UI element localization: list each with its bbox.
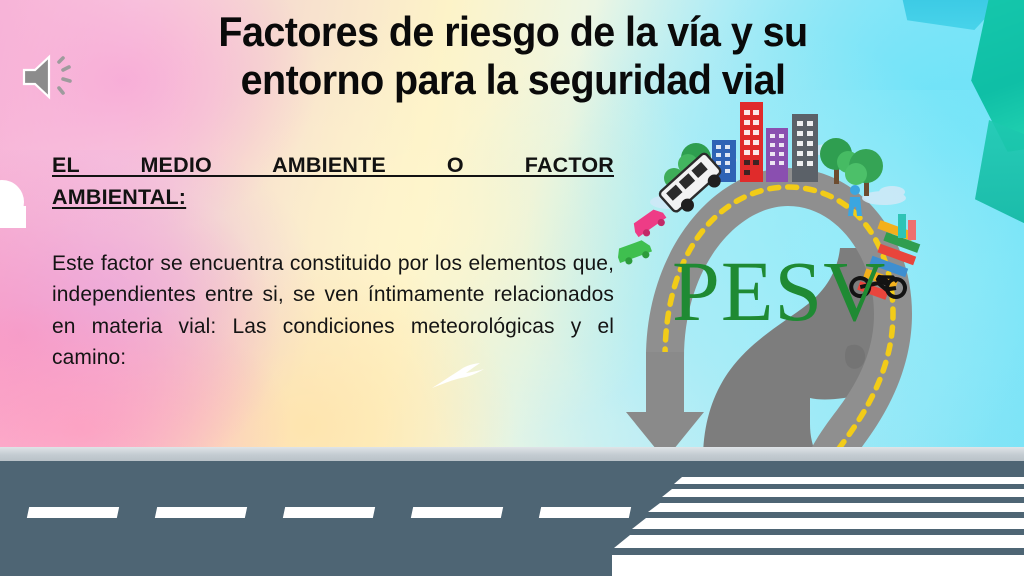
lane-dash <box>27 507 119 518</box>
content-column: EL MEDIO AMBIENTE O FACTOR AMBIENTAL: Es… <box>52 150 614 374</box>
body-paragraph: Este factor se encuentra constituido por… <box>52 248 614 374</box>
title-line-1: Factores de riesgo de la vía y su <box>142 8 885 56</box>
road-curb <box>0 447 1024 461</box>
lane-dash <box>155 507 247 518</box>
subheading-line-1: EL MEDIO AMBIENTE O FACTOR <box>52 153 614 177</box>
bird-icon <box>430 362 492 392</box>
pesv-illustration: PESV <box>612 108 942 488</box>
page-title: Factores de riesgo de la vía y su entorn… <box>142 8 885 104</box>
road-arrow-icon <box>626 352 704 460</box>
car-pink-icon <box>631 206 670 241</box>
slide-canvas: Factores de riesgo de la vía y su entorn… <box>0 0 1024 576</box>
building-gray <box>792 114 818 182</box>
paragraph-line-1: Este factor se encuentra constituido por… <box>52 252 462 275</box>
pesv-wordmark: PESV <box>672 243 886 339</box>
building-purple <box>766 128 788 182</box>
lane-dash <box>283 507 375 518</box>
pesv-buildings <box>712 102 818 182</box>
subheading-line-2: AMBIENTAL: <box>52 182 614 214</box>
title-line-2: entorno para la seguridad vial <box>142 56 885 104</box>
building-red <box>740 102 763 182</box>
zebra-crossing <box>612 461 1024 576</box>
speaker-icon[interactable] <box>18 48 86 106</box>
lane-dash <box>411 507 503 518</box>
subheading: EL MEDIO AMBIENTE O FACTOR AMBIENTAL: <box>52 150 614 214</box>
car-green-icon <box>615 238 653 267</box>
zebra-stripe-group <box>612 477 1024 576</box>
